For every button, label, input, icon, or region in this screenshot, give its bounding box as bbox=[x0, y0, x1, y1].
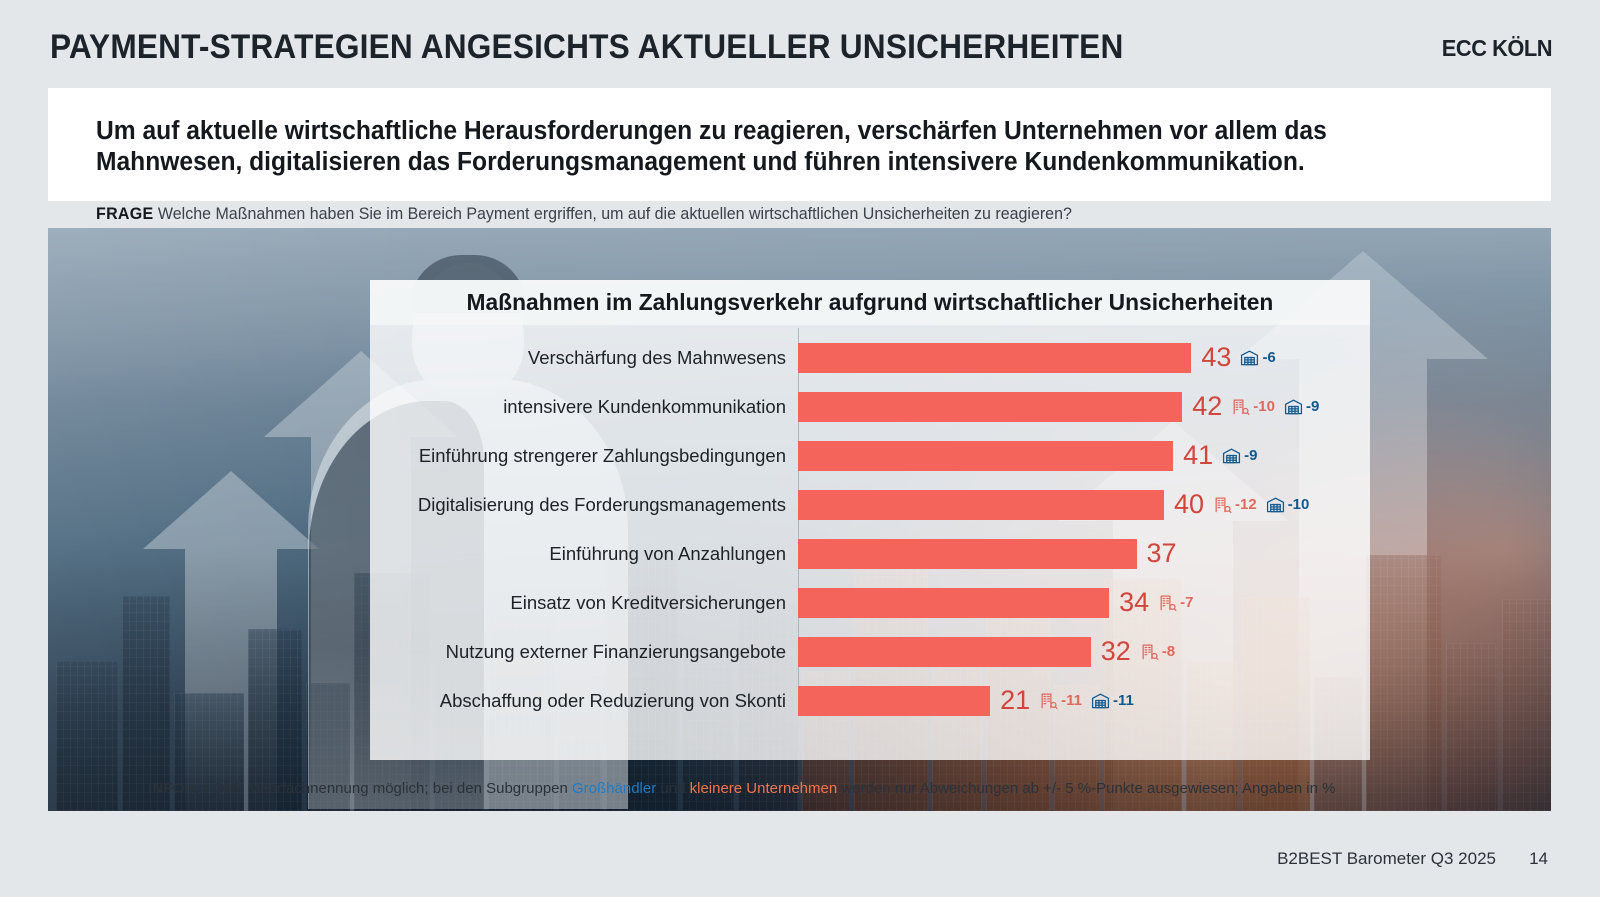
chart-row: Einsatz von Kreditversicherungen34-7 bbox=[370, 578, 1380, 627]
chart-bar bbox=[798, 539, 1137, 569]
warehouse-icon bbox=[1284, 397, 1303, 416]
subgroup-delta: -9 bbox=[1222, 446, 1257, 465]
info-group-wholesale: Großhändler bbox=[572, 780, 656, 797]
subgroup-delta-value: -9 bbox=[1244, 448, 1257, 463]
chart-bar-value: 43 bbox=[1201, 344, 1231, 371]
subgroup-delta: -8 bbox=[1140, 642, 1175, 661]
chart-subgroup-deltas: -8 bbox=[1140, 642, 1175, 661]
chart-subgroup-deltas: -7 bbox=[1158, 593, 1193, 612]
subgroup-delta-value: -11 bbox=[1113, 693, 1134, 708]
chart-bar-value: 34 bbox=[1119, 589, 1149, 616]
small-business-icon bbox=[1158, 593, 1177, 612]
chart-row: Abschaffung oder Reduzierung von Skonti2… bbox=[370, 676, 1380, 725]
chart-title: Maßnahmen im Zahlungsverkehr aufgrund wi… bbox=[467, 289, 1274, 316]
chart-bar-value: 21 bbox=[1000, 687, 1030, 714]
chart-bar-wrap: 41-9 bbox=[798, 431, 1380, 480]
warehouse-icon bbox=[1222, 446, 1241, 465]
subgroup-delta-value: -9 bbox=[1306, 399, 1319, 414]
small-business-icon bbox=[1039, 691, 1058, 710]
subgroup-delta: -11 bbox=[1039, 691, 1082, 710]
chart-title-bar: Maßnahmen im Zahlungsverkehr aufgrund wi… bbox=[370, 280, 1370, 325]
chart-rows: Verschärfung des Mahnwesens43-6intensive… bbox=[370, 333, 1380, 725]
subgroup-delta-value: -10 bbox=[1253, 399, 1275, 414]
chart-bar-wrap: 34-7 bbox=[798, 578, 1380, 627]
subgroup-delta: -7 bbox=[1158, 593, 1193, 612]
chart-bar bbox=[798, 490, 1164, 520]
brand-logo: ECC KÖLN bbox=[1442, 35, 1552, 62]
subgroup-delta-value: -6 bbox=[1262, 350, 1275, 365]
question-band: FRAGE Welche Maßnahmen haben Sie im Bere… bbox=[48, 201, 1551, 228]
chart-row: Nutzung externer Finanzierungsangebote32… bbox=[370, 627, 1380, 676]
chart-bar bbox=[798, 588, 1109, 618]
chart-row-label: Digitalisierung des Forderungsmanagement… bbox=[370, 494, 798, 516]
chart-bar-wrap: 40-12-10 bbox=[798, 480, 1380, 529]
chart-subgroup-deltas: -9 bbox=[1222, 446, 1257, 465]
chart-row: Einführung strengerer Zahlungsbedingunge… bbox=[370, 431, 1380, 480]
info-part-3: werden nur Abweichungen ab +/- 5 %-Punkt… bbox=[837, 780, 1335, 797]
chart-subgroup-deltas: -6 bbox=[1240, 348, 1275, 367]
hero-image-panel: Maßnahmen im Zahlungsverkehr aufgrund wi… bbox=[48, 228, 1551, 811]
chart-bar-wrap: 37 bbox=[798, 529, 1380, 578]
chart-row: intensivere Kundenkommunikation42-10-9 bbox=[370, 382, 1380, 431]
subgroup-delta-value: -12 bbox=[1235, 497, 1257, 512]
chart-row-label: Nutzung externer Finanzierungsangebote bbox=[370, 641, 798, 663]
subgroup-delta: -10 bbox=[1266, 495, 1310, 514]
chart-row: Digitalisierung des Forderungsmanagement… bbox=[370, 480, 1380, 529]
subgroup-delta: -6 bbox=[1240, 348, 1275, 367]
subgroup-delta-value: -8 bbox=[1162, 644, 1175, 659]
info-label: INFO bbox=[148, 780, 185, 797]
chart-row-label: Einführung strengerer Zahlungsbedingunge… bbox=[370, 445, 798, 467]
chart-bar-wrap: 32-8 bbox=[798, 627, 1380, 676]
warehouse-icon bbox=[1240, 348, 1259, 367]
chart-row-label: intensivere Kundenkommunikation bbox=[370, 396, 798, 418]
chart-bar-wrap: 21-11-11 bbox=[798, 676, 1380, 725]
key-message-band: Um auf aktuelle wirtschaftliche Herausfo… bbox=[48, 88, 1551, 201]
chart-bar-value: 37 bbox=[1147, 540, 1177, 567]
subgroup-delta: -11 bbox=[1091, 691, 1134, 710]
small-business-icon bbox=[1231, 397, 1250, 416]
subgroup-delta-value: -11 bbox=[1061, 693, 1082, 708]
subgroup-delta: -9 bbox=[1284, 397, 1319, 416]
question-body: Welche Maßnahmen haben Sie im Bereich Pa… bbox=[158, 205, 1072, 223]
subgroup-delta-value: -7 bbox=[1180, 595, 1193, 610]
warehouse-icon bbox=[1266, 495, 1285, 514]
chart-row-label: Verschärfung des Mahnwesens bbox=[370, 347, 798, 369]
chart-row-label: Einführung von Anzahlungen bbox=[370, 543, 798, 565]
chart-subgroup-deltas: -11-11 bbox=[1039, 691, 1134, 710]
chart-bar bbox=[798, 343, 1191, 373]
footer-page-number: 14 bbox=[1529, 849, 1548, 869]
page-title: PAYMENT-STRATEGIEN ANGESICHTS AKTUELLER … bbox=[50, 28, 1123, 67]
subgroup-delta: -12 bbox=[1213, 495, 1257, 514]
chart-bar bbox=[798, 637, 1091, 667]
chart-bar-value: 32 bbox=[1101, 638, 1131, 665]
small-business-icon bbox=[1213, 495, 1232, 514]
info-part-2: und bbox=[656, 780, 689, 797]
chart-row: Verschärfung des Mahnwesens43-6 bbox=[370, 333, 1380, 382]
chart-bar bbox=[798, 441, 1173, 471]
chart-bar-wrap: 43-6 bbox=[798, 333, 1380, 382]
chart-row-label: Abschaffung oder Reduzierung von Skonti bbox=[370, 690, 798, 712]
chart-bar-wrap: 42-10-9 bbox=[798, 382, 1380, 431]
chart-bar-value: 40 bbox=[1174, 491, 1204, 518]
subgroup-delta: -10 bbox=[1231, 397, 1275, 416]
footer-source: B2BEST Barometer Q3 2025 bbox=[1277, 849, 1496, 869]
chart-subgroup-deltas: -12-10 bbox=[1213, 495, 1309, 514]
key-message-text: Um auf aktuelle wirtschaftliche Herausfo… bbox=[96, 116, 1447, 178]
warehouse-icon bbox=[1091, 691, 1110, 710]
small-business-icon bbox=[1140, 642, 1159, 661]
chart-bar-value: 41 bbox=[1183, 442, 1213, 469]
chart-row-label: Einsatz von Kreditversicherungen bbox=[370, 592, 798, 614]
info-footer: INFO n = 205, Mehrfachnennung möglich; b… bbox=[148, 780, 1548, 797]
subgroup-delta-value: -10 bbox=[1288, 497, 1310, 512]
chart-row: Einführung von Anzahlungen37 bbox=[370, 529, 1380, 578]
chart-bar bbox=[798, 392, 1182, 422]
question-text: FRAGE Welche Maßnahmen haben Sie im Bere… bbox=[96, 205, 1072, 224]
chart-bar bbox=[798, 686, 990, 716]
chart-subgroup-deltas: -10-9 bbox=[1231, 397, 1319, 416]
chart-bar-value: 42 bbox=[1192, 393, 1222, 420]
info-part-1: n = 205, Mehrfachnennung möglich; bei de… bbox=[189, 780, 572, 797]
question-label: FRAGE bbox=[96, 205, 153, 223]
info-group-small: kleinere Unternehmen bbox=[690, 780, 838, 797]
